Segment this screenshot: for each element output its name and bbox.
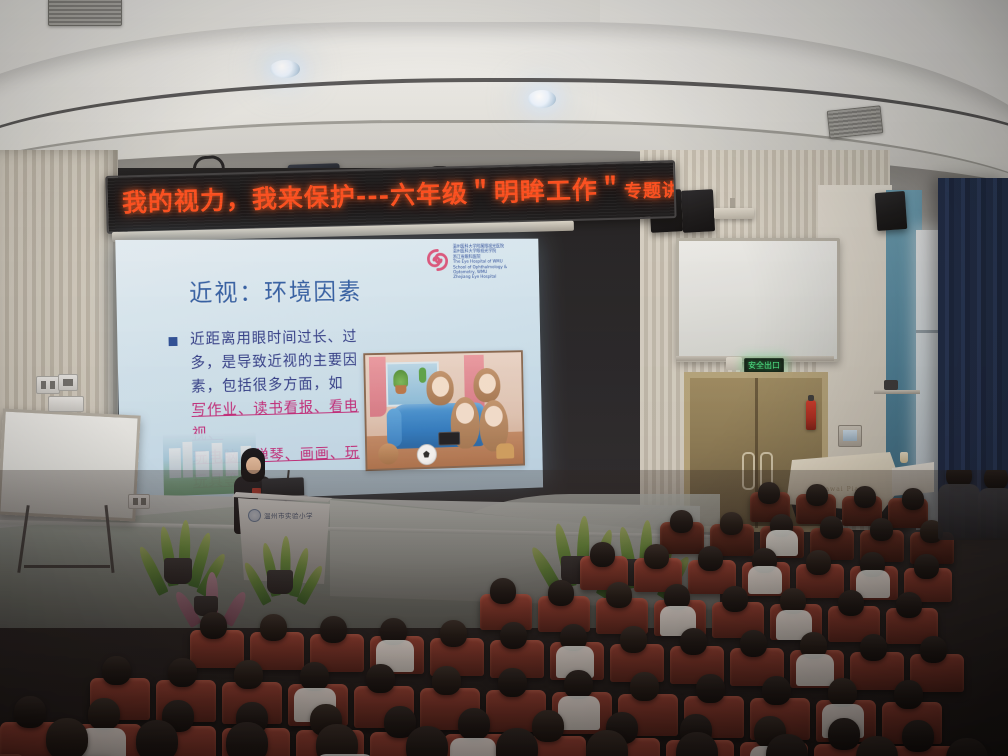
audience-head — [226, 722, 268, 756]
audience-torso — [450, 738, 496, 756]
slide-logo-text: 温州医科大学附属眼视光医院 温州医科大学眼视光学院 浙江省眼科医院 The Ey… — [453, 244, 531, 280]
shelf-object — [884, 380, 898, 390]
led-banner-text: 我的视力，我来保护---六年级＂明眸工作＂专题讲座 — [121, 168, 668, 226]
audience-seating — [0, 470, 1008, 756]
audience-head — [316, 724, 358, 756]
audience-head — [894, 680, 923, 709]
audience-head — [46, 718, 88, 756]
audience-head — [806, 550, 831, 575]
audience-head — [870, 518, 893, 541]
audience-head — [102, 656, 131, 685]
ceiling-vent-left — [48, 0, 122, 26]
audience-head — [740, 630, 767, 657]
exit-sign-label: 安全出口 — [748, 362, 780, 370]
led-banner-tail: 专题讲座 — [624, 179, 677, 202]
audience-head — [458, 708, 490, 740]
audience-torso — [748, 566, 782, 594]
wall-outlet-1 — [36, 376, 60, 394]
projection-screen: 温州医科大学附属眼视光医院 温州医科大学眼视光学院 浙江省眼科医院 The Ey… — [115, 239, 543, 504]
audience-head — [854, 486, 876, 508]
audience-head — [168, 658, 197, 687]
audience-head — [300, 662, 329, 691]
audience-head — [498, 668, 527, 697]
audience-head — [490, 578, 516, 604]
audience-head — [14, 696, 46, 728]
led-banner-main: 我的视力，我来保护---六年级＂明眸工作＂ — [122, 175, 625, 218]
audience-head — [838, 590, 864, 616]
audience-head — [722, 586, 748, 612]
wall-shelf — [874, 390, 920, 394]
ceiling-speaker-far-right — [875, 191, 908, 231]
ceiling-speaker-right — [681, 189, 715, 233]
standing-adult-torso — [978, 488, 1008, 540]
audience-head — [260, 614, 287, 641]
logo-line-en-3: Zhejiang Eye Hospital — [453, 275, 530, 281]
audience-head — [698, 546, 723, 571]
wall-whiteboard — [676, 238, 840, 362]
audience-head — [548, 580, 574, 606]
audience-head — [920, 636, 947, 663]
slide-line-2: 多，是导致近视的主要因 — [190, 347, 380, 374]
cartoon-curtain-left — [369, 357, 387, 417]
audience-head — [914, 554, 939, 579]
exit-sign: 安全出口 — [744, 358, 784, 373]
audience-head — [896, 592, 922, 618]
audience-head — [564, 670, 593, 699]
audience-head — [320, 616, 347, 643]
audience-head — [630, 672, 659, 701]
fire-extinguisher — [806, 400, 816, 430]
children-watching-phone-illustration — [363, 350, 525, 471]
audience-head — [670, 510, 693, 533]
audience-head — [136, 720, 178, 756]
standing-adult-torso — [938, 484, 980, 540]
cartoon-sofa-arm — [387, 408, 402, 447]
emergency-light-fitting — [726, 357, 742, 370]
audience-head — [590, 542, 615, 567]
audience-torso — [558, 696, 600, 730]
audience-head — [762, 676, 791, 705]
audience-head — [902, 488, 924, 510]
slide-line-1: 近距离用眼时间过长、过 — [190, 324, 380, 351]
audience-torso — [796, 654, 834, 686]
audience-head — [680, 628, 707, 655]
audience-head — [432, 666, 461, 695]
audience-head — [828, 678, 857, 707]
audience-head — [88, 698, 120, 730]
audience-head — [500, 622, 527, 649]
audience-head — [902, 720, 934, 752]
wall-control-panel[interactable] — [838, 425, 862, 447]
audience-head — [234, 660, 263, 689]
cartoon-smartphone — [438, 432, 460, 446]
slide-bullet-marker — [169, 337, 178, 346]
audience-head — [806, 484, 828, 506]
cartoon-plant-pot — [395, 385, 406, 394]
audience-head — [696, 674, 725, 703]
audience-head — [758, 482, 780, 504]
slide-title: 近视：环境因素 — [189, 272, 363, 308]
audience-head — [720, 512, 743, 535]
audience-head — [366, 664, 395, 693]
audience-head — [828, 718, 860, 750]
table-cup — [900, 452, 908, 463]
audience-head — [860, 634, 887, 661]
downlight-1 — [270, 60, 300, 78]
wall-outlet-2 — [58, 374, 78, 391]
audience-head — [200, 612, 227, 639]
cartoon-cactus — [419, 367, 427, 382]
audience-head — [820, 516, 843, 539]
audience-head — [440, 620, 467, 647]
auditorium-photo: 安全出口 我的视力，我来保护---六年级＂明眸工作＂专题讲座 温州医科大学附属眼… — [0, 0, 1008, 756]
audience-head — [620, 626, 647, 653]
audience-head — [606, 582, 632, 608]
audience-head — [644, 544, 669, 569]
av-box — [48, 396, 84, 412]
wall-projector — [714, 208, 754, 219]
slide-logo: 温州医科大学附属眼视光医院 温州医科大学眼视光学院 浙江省眼科医院 The Ey… — [425, 244, 530, 283]
eye-hospital-logo-icon — [425, 248, 449, 273]
cartoon-stool — [496, 443, 514, 459]
standing-adult-head — [984, 470, 1008, 490]
audience-head — [532, 710, 564, 742]
